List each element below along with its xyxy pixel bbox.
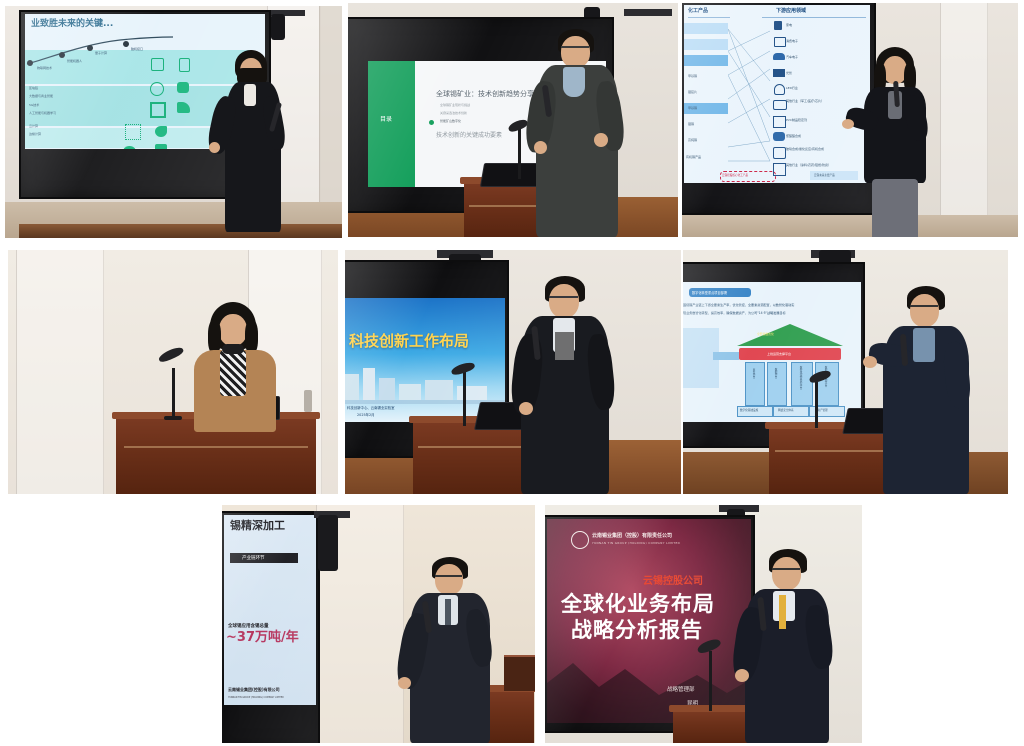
slide-tag-label: 产业链环节	[242, 555, 265, 561]
slide-list-item: 云计算	[29, 124, 38, 128]
ceiling-speaker	[271, 14, 285, 40]
hand-left	[735, 669, 749, 682]
slide-list-item: 有机锡产品	[686, 155, 701, 159]
presenter	[408, 557, 512, 743]
presenter	[741, 549, 853, 743]
turtleneck	[222, 344, 244, 354]
slide-surface: 云南锡业集团（控股）有限责任公司 YUNNAN TIN GROUP (HOLDI…	[547, 519, 751, 723]
hand-left	[398, 677, 411, 689]
slide-list-item: 聚酯酯合成	[786, 134, 801, 138]
slide-arrow	[713, 352, 739, 360]
slide-list-item: 区块链	[29, 86, 38, 90]
slide-list-item: LED行业	[786, 86, 798, 90]
slide-footer-cn: 云南锡业集团(控股)有限公司	[228, 687, 280, 693]
slide-sidebar-label: 目录	[380, 117, 392, 123]
slide-surface: 数字化转型重点项目部署 围绕锡产业链上下游全要素生产率，优化管控、全要素资源配置…	[683, 282, 861, 422]
projection-screen: 化工产品 下游应用领域 甲基锡 铟锭片 甲基锡 铟锡 高纯锡 有机锡产品	[682, 3, 876, 215]
slide-title: 全球锡矿业：技术创新趋势分享	[436, 91, 534, 98]
inner-shirt	[563, 67, 585, 97]
slide-highlight-label: 云锡控股核心化工产品	[722, 173, 748, 177]
photo-row1-col2[interactable]: 目录 全球锡矿业：技术创新趋势分享 全球锡矿业现状与挑战 关键采选冶技术创新 智…	[348, 3, 678, 237]
photo-row2-col3[interactable]: 数字化转型重点项目部署 围绕锡产业链上下游全要素生产率，优化管控、全要素资源配置…	[683, 250, 1008, 494]
roof-label: 全要素数智化	[757, 332, 774, 336]
pillar	[745, 362, 765, 406]
mic-stand	[709, 651, 712, 711]
photo-row2-col2[interactable]: 科技创新工作布局 科技创新中心、云南锡业实验室 2025年2月	[345, 250, 681, 494]
slide-rule	[688, 17, 730, 18]
patterned-scarf	[220, 350, 246, 396]
slide-list-item: 消费电子	[786, 39, 798, 43]
hand-left	[863, 356, 877, 368]
slide-list-item: 边缘计算	[29, 132, 41, 136]
ceiling-mount	[624, 9, 672, 16]
slide-icon	[773, 69, 785, 77]
mic-stand	[172, 368, 175, 418]
slide-icon	[774, 84, 785, 95]
slide-icon	[150, 82, 164, 96]
slide-icon	[773, 132, 785, 141]
base-label: 数字化基础设施	[740, 408, 758, 412]
head	[561, 36, 590, 68]
photo-collage: 业致胜未来的关键... 物联网技术 智能机器人 量子计算	[0, 0, 1024, 746]
inner-shirt	[913, 328, 935, 362]
lecture-room-scene: 目录 全球锡矿业：技术创新趋势分享 全球锡矿业现状与挑战 关键采选冶技术创新 智…	[348, 3, 678, 237]
curve-label: 智能机器人	[67, 59, 82, 63]
pillar-label: 数智化运营管控平台	[798, 366, 802, 389]
curve-node	[123, 41, 129, 47]
pillar-label: 数据中台	[773, 368, 777, 378]
hand-left	[519, 402, 533, 415]
slide-icon	[773, 100, 787, 110]
necktie	[445, 599, 451, 625]
curve-node	[59, 52, 65, 58]
slide-icon	[773, 53, 785, 60]
slide-sidebar	[368, 61, 415, 187]
lecture-room-scene: 锡精深加工 产业链环节 全球锡应用含锡总量 ~37万吨/年 云南锡业集团(控股)…	[222, 505, 535, 743]
slide-list-item: 铟锭片	[688, 90, 697, 94]
mic-base	[164, 416, 182, 420]
company-name-cn: 云南锡业集团（控股）有限责任公司	[592, 532, 672, 539]
slide-icon	[774, 37, 786, 47]
slide-list-item: 5G技术	[29, 103, 39, 107]
sweater-vest	[555, 332, 574, 360]
slide-subtitle-line2: 现业务数智化转型、提高效率，确保数据资产，为公司"14·5"战略发展目标	[683, 310, 786, 315]
slide-icon	[155, 144, 167, 149]
slide-list-item: 铟锡	[688, 122, 694, 126]
slide-byline1: 战略管理部	[667, 685, 695, 693]
podium-trim	[124, 446, 308, 448]
slide-title-left: 化工产品	[688, 9, 708, 14]
slide-footer-line1: 科技创新中心、云南锡业实验室	[347, 405, 394, 410]
slide-chip	[684, 23, 728, 34]
slide-list-item: 高纯锡	[688, 138, 697, 142]
eyeglasses	[910, 305, 938, 307]
necktie	[779, 595, 786, 629]
slide-icon	[774, 21, 782, 30]
skyline-graphic	[345, 360, 505, 404]
slide-legend-label: 云锡未来主要产品	[814, 173, 835, 177]
mic-stand	[815, 382, 818, 428]
slide-active-bullet-marker	[429, 120, 434, 125]
curve-label: 量子计算	[95, 51, 107, 55]
slide-icon	[773, 147, 786, 159]
curve-label: 脑机接口	[131, 47, 143, 51]
slide-list-item: 甲基锡	[688, 74, 697, 78]
photo-row3-col1[interactable]: 锡精深加工 产业链环节 全球锡应用含锡总量 ~37万吨/年 云南锡业集团(控股)…	[222, 505, 535, 743]
led-portrait-panel: 锡精深加工 产业链环节 全球锡应用含锡总量 ~37万吨/年 云南锡业集团(控股)…	[222, 511, 320, 743]
curve-node	[87, 45, 93, 51]
slide-footer-en: YUNNAN TIN GROUP (HOLDING) COMPANY LIMIT…	[228, 696, 284, 699]
wall-panel	[16, 250, 104, 494]
slide-title-line1: 全球化业务布局	[561, 593, 715, 615]
slide-rule	[762, 17, 866, 18]
slide-icon	[177, 82, 189, 93]
hair-side	[245, 320, 258, 354]
presenter	[850, 47, 960, 237]
company-name-en: YUNNAN TIN GROUP (HOLDING) COMPANY LIMIT…	[592, 541, 680, 545]
company-logo-icon	[571, 531, 589, 549]
presenter	[530, 29, 640, 237]
lecture-room-scene: 云南锡业集团（控股）有限责任公司 YUNNAN TIN GROUP (HOLDI…	[545, 505, 862, 743]
slide-title-right: 下游应用领域	[776, 9, 806, 14]
hand-left	[842, 119, 854, 129]
eyeglasses	[549, 296, 578, 298]
slide-chip	[684, 39, 728, 50]
slide-list-item: 汽车电子	[786, 55, 798, 59]
roof-graphic	[737, 324, 843, 348]
slide-list-item: 家电	[786, 23, 792, 27]
slide-bullet: 关键采选冶技术创新	[440, 111, 467, 115]
mic-stand	[463, 372, 466, 426]
slide-icon	[151, 58, 164, 71]
eyeglasses	[435, 575, 462, 577]
eyeglasses	[561, 46, 589, 48]
presenter	[879, 286, 993, 494]
head	[910, 294, 939, 327]
slide-list-item: 光伏	[786, 71, 792, 75]
speaker	[186, 302, 290, 432]
pillar	[815, 362, 839, 406]
legs	[872, 179, 918, 237]
slide-icon	[773, 116, 786, 128]
photo-row1-col3[interactable]: 化工产品 下游应用领域 甲基锡 铟锭片 甲基锡 铟锡 高纯锡 有机锡产品	[682, 3, 1018, 237]
projection-screen: 数字化转型重点项目部署 围绕锡产业链上下游全要素生产率，优化管控、全要素资源配置…	[683, 262, 865, 448]
curve-node	[27, 60, 33, 66]
slide-bullet: 智能矿山数字化	[440, 119, 461, 123]
inner-shirt	[244, 84, 256, 106]
led-wall: 云南锡业集团（控股）有限责任公司 YUNNAN TIN GROUP (HOLDI…	[545, 515, 755, 733]
slide-title: 数字化转型重点项目部署	[692, 290, 727, 295]
lecture-room-scene: 数字化转型重点项目部署 围绕锡产业链上下游全要素生产率，优化管控、全要素资源配置…	[683, 250, 1008, 494]
slide-list-item: 人工智能与机器学习	[29, 111, 56, 115]
head	[549, 284, 579, 318]
slide-title: 科技创新工作布局	[349, 334, 469, 350]
slide-bullet: 技术创新的关键成功要素	[436, 133, 502, 139]
slide-footer-line2: 2025年2月	[357, 412, 375, 417]
photo-row1-col1[interactable]: 业致胜未来的关键... 物联网技术 智能机器人 量子计算	[5, 6, 342, 238]
eyeglasses	[772, 568, 800, 570]
slide-surface: 锡精深加工 产业链环节 全球锡应用含锡总量 ~37万吨/年 云南锡业集团(控股)…	[224, 515, 316, 705]
slide-list-item: PVC制品稳定剂	[786, 118, 807, 122]
hand-left	[534, 141, 547, 154]
head	[435, 564, 463, 595]
lecture-room-scene: 业致胜未来的关键... 物联网技术 智能机器人 量子计算	[5, 6, 342, 238]
photo-row2-col1[interactable]	[8, 250, 338, 494]
slide-eyebrow: 云锡控股公司	[643, 577, 703, 588]
curve-label: 物联网技术	[37, 66, 52, 70]
slide-icon	[125, 124, 141, 140]
pillar-label: 业务中台	[751, 368, 755, 378]
hair-side	[208, 320, 221, 354]
slide-subtitle-line1: 围绕锡产业链上下游全要素生产率，优化管控、全要素资源配置，以数智化驱动实	[683, 302, 794, 307]
slide-chip	[684, 55, 728, 66]
slide-icon	[179, 58, 190, 72]
banner-label: 上线运营支撑平台	[767, 352, 791, 356]
hand-right	[594, 133, 608, 147]
slide-stat-label: 全球锡应用含锡总量	[228, 623, 269, 629]
hand-left	[209, 142, 220, 153]
slide-icon	[150, 102, 166, 118]
slide-title: 业致胜未来的关键...	[31, 20, 113, 29]
pillar	[791, 362, 813, 406]
ceiling-speaker	[318, 515, 338, 571]
door-handle	[304, 390, 312, 412]
mic-stand	[518, 129, 521, 179]
slide-list-item: 玻璃合成/催化反应/有机合成	[786, 147, 824, 151]
slide-stat-value: ~37万吨/年	[226, 631, 299, 645]
slide-bullet: 全球锡矿业现状与挑战	[440, 103, 470, 107]
slide-icon	[155, 126, 167, 137]
presenter	[213, 50, 307, 238]
lecture-room-scene: 科技创新工作布局 科技创新中心、云南锡业实验室 2025年2月	[345, 250, 681, 494]
pillar	[767, 362, 787, 406]
head	[772, 557, 801, 590]
photo-row3-col2[interactable]: 云南锡业集团（控股）有限责任公司 YUNNAN TIN GROUP (HOLDI…	[545, 505, 862, 743]
mapping-lines	[728, 21, 772, 171]
slide-list-item: 其他行业（军工/医疗/芯片）	[786, 99, 824, 103]
slide-list-item: 大数据与商业智能	[29, 94, 53, 98]
presenter	[517, 276, 635, 494]
head	[219, 314, 247, 346]
slide-list-item: 甲基锡	[688, 106, 697, 110]
slide-title: 锡精深加工	[230, 520, 285, 532]
slide-surface: 化工产品 下游应用领域 甲基锡 铟锭片 甲基锡 铟锡 高纯锡 有机锡产品	[684, 5, 870, 183]
slide-list-item: 其他行业（涂料/农药/阻燃/防腐）	[786, 163, 831, 167]
lecture-room-scene: 化工产品 下游应用领域 甲基锡 铟锭片 甲基锡 铟锡 高纯锡 有机锡产品	[682, 3, 1018, 237]
handheld-microphone	[893, 81, 900, 107]
base-label: 网络安全体系	[778, 408, 794, 412]
lecture-room-scene	[8, 250, 338, 494]
